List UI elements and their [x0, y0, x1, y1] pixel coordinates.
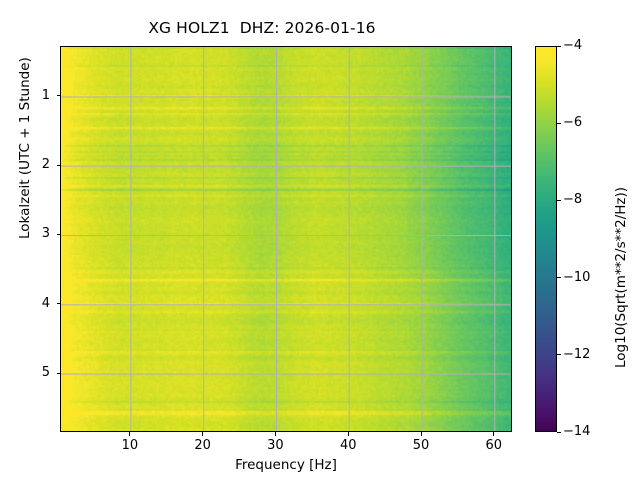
x-tick-label: 50 [391, 438, 451, 453]
y-tick-mark [57, 234, 61, 235]
colorbar-tick-label: −10 [563, 270, 590, 285]
colorbar-tick-label: −14 [563, 424, 590, 439]
x-tick-label: 30 [245, 438, 305, 453]
x-tick-label: 20 [173, 438, 233, 453]
colorbar-tick-label: −8 [563, 192, 582, 207]
spectrogram-figure: XG HOLZ1 DHZ: 2026-01-16 102030405060 12… [0, 0, 640, 480]
colorbar[interactable] [535, 46, 557, 432]
colorbar-tick-mark [557, 277, 561, 278]
page-title: XG HOLZ1 DHZ: 2026-01-16 [0, 19, 524, 37]
colorbar-label: Log10(Sqrt(m**2/s**2/Hz)) [613, 187, 629, 368]
x-tick-mark [348, 432, 349, 436]
x-tick-mark [493, 432, 494, 436]
x-tick-mark [129, 432, 130, 436]
spectrogram-plot-area[interactable] [60, 46, 512, 432]
x-tick-label: 10 [100, 438, 160, 453]
colorbar-tick-label: −6 [563, 115, 582, 130]
x-axis-label: Frequency [Hz] [60, 457, 512, 473]
colorbar-tick-mark [557, 432, 561, 433]
y-tick-label: 4 [10, 296, 57, 311]
colorbar-tick-mark [557, 200, 561, 201]
colorbar-gradient [536, 47, 557, 432]
y-tick-mark [57, 95, 61, 96]
y-tick-label: 5 [10, 365, 57, 380]
x-tick-label: 60 [464, 438, 524, 453]
colorbar-tick-label: −4 [563, 38, 582, 53]
x-tick-mark [275, 432, 276, 436]
y-tick-mark [57, 373, 61, 374]
colorbar-tick-label: −12 [563, 347, 590, 362]
x-tick-mark [202, 432, 203, 436]
colorbar-tick-mark [557, 354, 561, 355]
x-tick-mark [421, 432, 422, 436]
x-tick-label: 40 [318, 438, 378, 453]
y-tick-mark [57, 303, 61, 304]
y-axis-label: Lokalzeit (UTC + 1 Stunde) [17, 57, 33, 239]
y-tick-mark [57, 165, 61, 166]
colorbar-tick-mark [557, 123, 561, 124]
spectrogram-image [61, 47, 512, 432]
colorbar-tick-mark [557, 46, 561, 47]
